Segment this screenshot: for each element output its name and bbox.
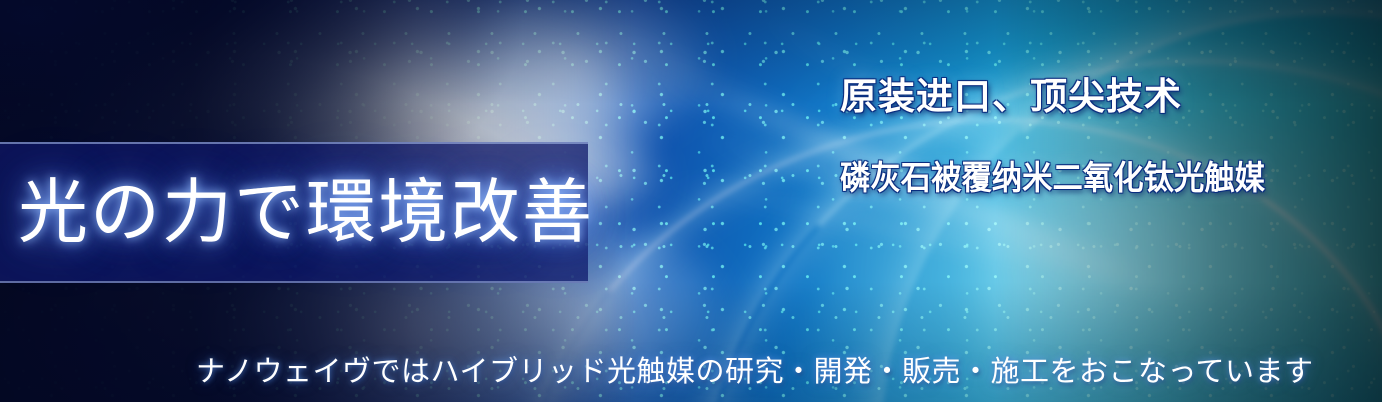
promo-subheading: 磷灰石被覆纳米二氧化钛光触媒 (840, 157, 1265, 199)
hero-banner: 光の力で環境改善 原装进口、顶尖技术 磷灰石被覆纳米二氧化钛光触媒 ナノウェイヴ… (0, 0, 1382, 402)
page-title: 光の力で環境改善 (18, 160, 588, 264)
promo-heading: 原装进口、顶尖技术 (840, 74, 1182, 120)
tagline: ナノウェイヴではハイブリッド光触媒の研究・開発・販売・施工をおこなっています (196, 352, 1314, 390)
